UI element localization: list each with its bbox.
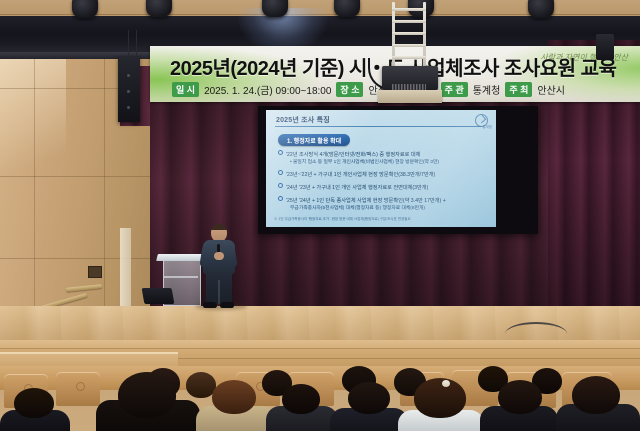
audience-head [282,384,320,414]
ceiling-spotlight-icon [262,0,288,17]
slide-bullet: '25년 '24년 + 1인 단독 종사업체 사업체 현장 방문확인(약 3.4… [278,196,486,212]
wood-seam [0,176,150,177]
presenter-shoe [220,302,234,308]
slide-logo-caption: 통계청 [482,125,492,130]
audience-head [118,372,176,418]
bullet-text: '22년 조사방식 4개(방문/인터넷/전화/팩스) 중 행정자료로 대체 [286,152,420,158]
audience-head [414,378,466,418]
banner-chip-datetime: 일 시 [172,82,199,97]
presenter-leg-split [218,280,220,304]
audience-head [14,388,54,418]
slide-bullet: '24년 '23년 + 가구내 1인 개인 사업체 행정자료로 전면대체(3만개… [278,183,486,192]
floor-monitor-speaker [142,288,175,304]
slide-bullet-list: '22년 조사방식 4개(방문/인터넷/전화/팩스) 중 행정자료로 대체 • … [278,150,486,217]
presenter-hands [214,252,224,260]
bullet-text: '23년~'22년 + 가구내 1인 개인사업체 현장 방문확인(38.3만개/… [286,172,435,178]
slide-footnote: ※ 1인 무급가족종사자 '행정자료 추가', 현장 방문 대체 사업체(행정자… [274,217,411,222]
bullet-text: '25년 '24년 + 1인 단독 종사업체 사업체 현장 방문확인(약 3.4… [286,198,446,204]
presenter-shoe [203,302,217,308]
slide-title-rule [275,126,481,127]
slide-title: 2025년 조사 특징 [276,115,330,125]
projection-screen: 2025년 조사 특징 통계청 1. 행정자료 활용 확대 '22년 조사방식 … [266,110,496,227]
audience-head [572,376,620,414]
speaker-wire [136,30,137,58]
stage-step-edge [0,352,178,354]
bullet-dot-icon [278,183,283,188]
audience [0,366,640,431]
slide-bullet: '22년 조사방식 4개(방문/인터넷/전화/팩스) 중 행정자료로 대체 • … [278,150,486,166]
ceiling-spotlight-icon [528,0,554,18]
slide-bullet: '23년~'22년 + 가구내 1인 개인사업체 현장 방문확인(38.3만개/… [278,170,486,179]
line-array-speaker [118,56,140,122]
audience-head [212,380,256,414]
lectern-shelf [164,276,198,278]
wall-speaker [88,266,102,278]
ceiling-spotlight-icon [72,0,98,18]
hair-scrunchie [442,380,450,387]
banner-info-line: 일 시 2025. 1. 24.(금) 09:00~18:00 장 소 안산시청… [172,82,565,97]
auditorium-photo: 사람과 자연이 행복한 안산 2025년(2024년 기준) 시・도 사업체조사… [0,0,640,431]
banner-host: 안산시 [537,82,565,97]
seat-number-badge [76,382,85,391]
bullet-dot-icon [278,150,283,155]
stage-edge-line [0,348,640,349]
ceiling-spotlight-icon [334,0,360,17]
bullet-dot-icon [278,170,283,175]
ceiling-spotlight-icon [146,0,172,17]
banner-datetime: 2025. 1. 24.(금) 09:00~18:00 [204,82,331,97]
banner-chip-organizer: 주 관 [441,82,468,97]
banner-organizer: 통계청 [473,82,501,97]
bullet-dot-icon [278,196,283,201]
slide-section-heading: 1. 행정자료 활용 확대 [278,134,350,146]
wall-light-wash [0,56,66,206]
audience-head [348,382,390,414]
projector-tray [378,90,442,103]
bullet-text: '24년 '23년 + 가구내 1인 개인 사업체 행정자료로 전면대체(3만개… [286,185,428,191]
bullet-subtext: • 불일치 업소 등 일부 1인 개인사업체(비법인사업체) 현장 방문확인(약… [290,160,486,166]
bullet-subtext: 무급가족종사자(5천사업체) 대체(행정자료 등) 행정자료 대체(8만개) [290,206,486,212]
handrail [66,284,102,292]
right-speaker [596,34,614,60]
banner-chip-place: 장 소 [336,82,363,97]
presenter [199,224,239,308]
audience-head [498,380,542,414]
speaker-wire [128,30,129,58]
banner-chip-host: 주 최 [505,82,532,97]
